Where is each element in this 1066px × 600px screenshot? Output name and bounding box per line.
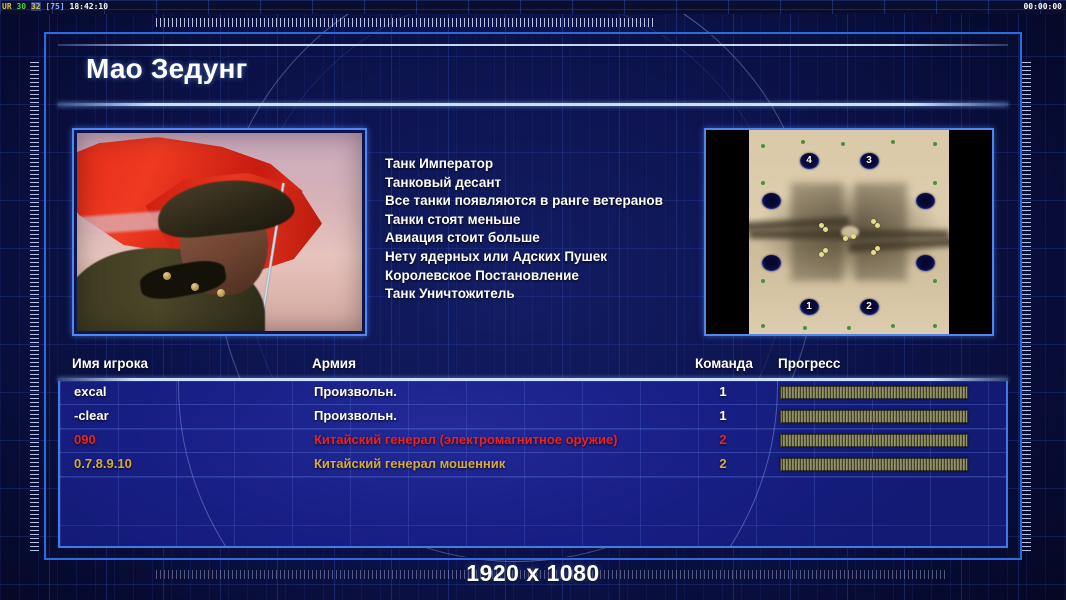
cell-progress [780,458,968,471]
bonus-item: Авиация стоит больше [385,229,695,248]
minimap-tree-marker [933,324,937,328]
minimap-resource-marker [875,223,880,228]
minimap-tree-marker [891,324,895,328]
minimap-start-position-4[interactable]: 4 [800,153,819,169]
bonus-item: Танки стоят меньше [385,211,695,230]
table-row[interactable]: -clearПроизвольн.1 [60,405,1006,429]
progress-bar [780,458,968,471]
minimap-resource-marker [823,248,828,253]
title-band: Мао Зедунг [58,44,1008,106]
cell-team: 2 [708,456,738,471]
blueprint-background: Мао Зедунг [0,14,1066,600]
minimap-tree-marker [933,181,937,185]
general-info-row: Танк Император Танковый десант Все танки… [72,128,994,340]
cell-player-name: -clear [74,408,109,423]
bonus-item: Королевское Постановление [385,267,695,286]
player-rows: excalПроизвольн.1-clearПроизвольн.1090Ки… [60,381,1006,477]
general-portrait-frame [72,128,367,336]
cell-progress [780,386,968,399]
minimap-start-position[interactable] [916,255,935,271]
minimap-tree-marker [761,279,765,283]
minimap-tree-marker [761,324,765,328]
minimap-tree-marker [891,140,895,144]
player-table-header: Имя игрока Армия Команда Прогресс [58,354,1008,378]
player-table: Имя игрока Армия Команда Прогресс excalП… [58,354,1008,548]
minimap-resource-marker [819,252,824,257]
status-seg-30: 30 [16,2,26,11]
title-rule-bottom [58,103,1008,106]
column-header-name: Имя игрока [72,356,148,371]
row-divider [60,476,1006,477]
cell-progress [780,434,968,447]
cell-player-name: excal [74,384,107,399]
table-row[interactable]: excalПроизвольн.1 [60,381,1006,405]
cell-army: Произвольн. [314,408,397,423]
status-bar-grid [0,0,1066,14]
column-header-army: Армия [312,356,356,371]
ruler-right [1022,62,1031,554]
cell-team: 2 [708,432,738,447]
column-header-team: Команда [695,356,753,371]
minimap-start-position-2[interactable]: 2 [860,299,879,315]
bonus-item: Все танки появляются в ранге ветеранов [385,192,695,211]
portrait-vignette [77,133,362,331]
table-row[interactable]: 090Китайский генерал (электромагнитное о… [60,429,1006,453]
cell-player-name: 0.7.8.9.10 [74,456,132,471]
minimap-start-position[interactable] [762,193,781,209]
progress-bar [780,434,968,447]
title-rule-top [58,44,1008,46]
minimap-tree-marker [841,142,845,146]
minimap-start-position[interactable] [916,193,935,209]
cell-player-name: 090 [74,432,96,447]
minimap-preview[interactable]: 4312 [704,128,994,336]
minimap-tree-marker [761,181,765,185]
status-bar-clock: 00:00:00 [1023,1,1062,12]
minimap-resource-marker [871,250,876,255]
general-portrait-image [77,133,362,331]
status-bar-left: UR 30 32 [75] 18:42:10 [2,1,108,12]
cell-progress [780,410,968,423]
page-title: Мао Зедунг [86,53,248,85]
ruler-top [156,18,656,27]
minimap-start-position[interactable] [762,255,781,271]
cell-team: 1 [708,408,738,423]
cell-army: Китайский генерал мошенник [314,456,505,471]
minimap-start-position-3[interactable]: 3 [860,153,879,169]
minimap-tree-marker [803,326,807,330]
cell-team: 1 [708,384,738,399]
minimap-tree-marker [801,140,805,144]
resolution-label: 1920 x 1080 [0,560,1066,587]
general-bonus-list: Танк Император Танковый десант Все танки… [385,155,695,304]
player-table-body: excalПроизвольн.1-clearПроизвольн.1090Ки… [58,381,1008,548]
bonus-item: Танк Уничтожитель [385,285,695,304]
minimap-tree-marker [933,142,937,146]
status-seg-time: 18:42:10 [70,2,109,11]
cell-army: Китайский генерал (электромагнитное оруж… [314,432,618,447]
minimap-resource-marker [875,246,880,251]
status-seg-bracket: [75] [45,2,64,11]
status-seg-32: 32 [31,2,41,11]
ruler-left [30,62,39,554]
minimap-resource-marker [851,234,856,239]
progress-bar [780,410,968,423]
status-seg-ur: UR [2,2,12,11]
minimap-terrain-patch [855,183,907,281]
lobby-window: Мао Зедунг [44,32,1022,560]
minimap-tree-marker [847,326,851,330]
minimap-tree-marker [761,144,765,148]
bonus-item: Танковый десант [385,174,695,193]
os-status-bar: UR 30 32 [75] 18:42:10 00:00:00 [0,0,1066,14]
bonus-item: Нету ядерных или Адских Пушек [385,248,695,267]
table-row[interactable]: 0.7.8.9.10Китайский генерал мошенник2 [60,453,1006,477]
minimap-tree-marker [933,279,937,283]
minimap-terrain-patch [791,183,843,281]
progress-bar [780,386,968,399]
bonus-item: Танк Император [385,155,695,174]
column-header-progress: Прогресс [778,356,840,371]
minimap-resource-marker [843,236,848,241]
minimap-terrain: 4312 [749,130,949,334]
cell-army: Произвольн. [314,384,397,399]
minimap-start-position-1[interactable]: 1 [800,299,819,315]
